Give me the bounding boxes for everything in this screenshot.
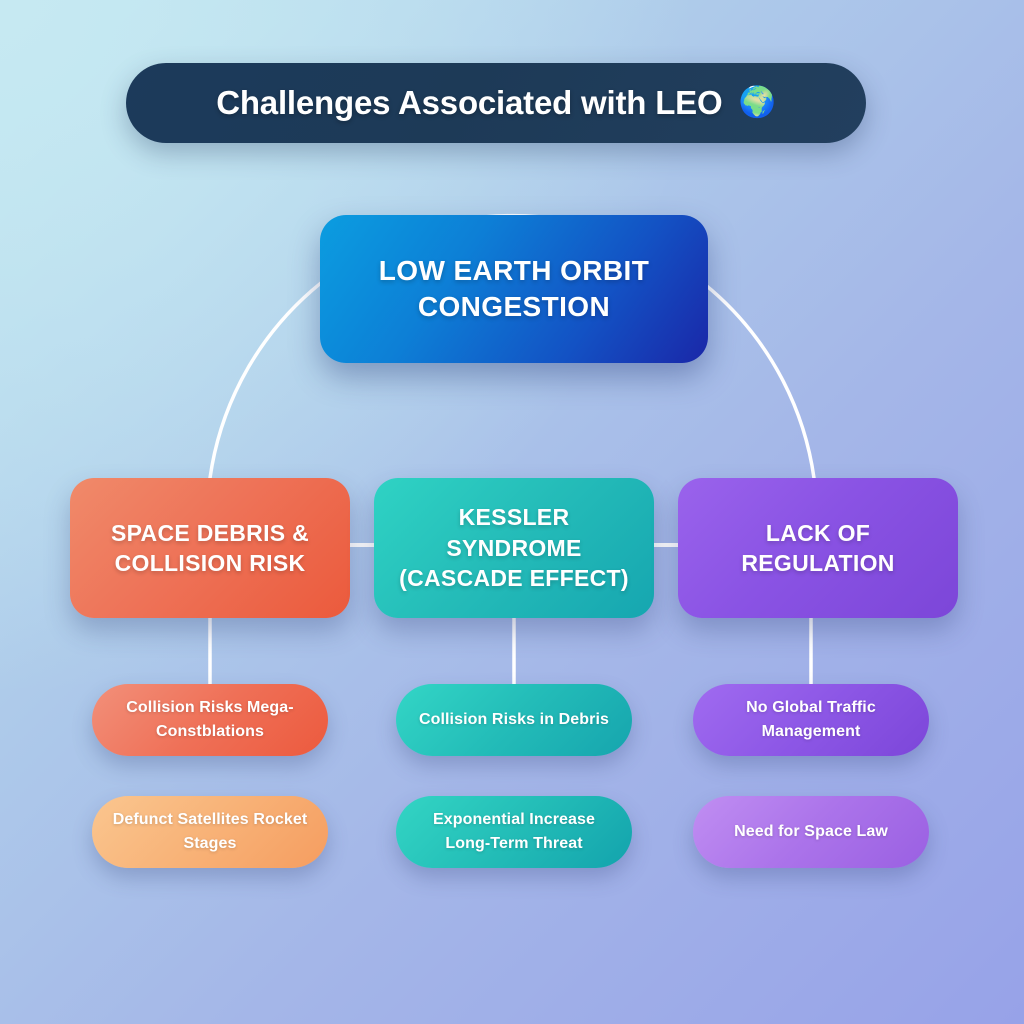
sub-item-label: Exponential Increase Long-Term Threat [410, 808, 618, 856]
category-card-label: LACK OF REGULATION [694, 518, 942, 579]
category-card-label: SPACE DEBRIS & COLLISION RISK [86, 518, 334, 579]
sub-item-label: Collision Risks Mega-Constblations [106, 696, 314, 744]
sub-item-pill[interactable]: Collision Risks in Debris [396, 684, 632, 756]
sub-item-label: Collision Risks in Debris [419, 708, 609, 732]
sub-item-pill[interactable]: Defunct Satellites Rocket Stages [92, 796, 328, 868]
category-card-lack-of-regulation[interactable]: LACK OF REGULATION [678, 478, 958, 618]
sub-item-label: No Global Traffic Management [707, 696, 915, 744]
root-node-label: LOW EARTH ORBIT CONGESTION [346, 253, 682, 326]
infographic-canvas: Challenges Associated with LEO 🌍 LOW EAR… [0, 0, 1024, 1024]
category-card-kessler-syndrome[interactable]: KESSLER SYNDROME (CASCADE EFFECT) [374, 478, 654, 618]
root-node-low-earth-orbit-congestion[interactable]: LOW EARTH ORBIT CONGESTION [320, 215, 708, 363]
sub-item-label: Need for Space Law [734, 820, 888, 844]
globe-earth-africa-icon: 🌍 [738, 88, 775, 118]
page-title: Challenges Associated with LEO [216, 84, 722, 122]
sub-item-pill[interactable]: No Global Traffic Management [693, 684, 929, 756]
sub-item-pill[interactable]: Exponential Increase Long-Term Threat [396, 796, 632, 868]
sub-item-pill[interactable]: Collision Risks Mega-Constblations [92, 684, 328, 756]
category-card-space-debris[interactable]: SPACE DEBRIS & COLLISION RISK [70, 478, 350, 618]
title-banner: Challenges Associated with LEO 🌍 [126, 63, 866, 143]
sub-item-label: Defunct Satellites Rocket Stages [106, 808, 314, 856]
category-card-label: KESSLER SYNDROME (CASCADE EFFECT) [390, 502, 638, 593]
sub-item-pill[interactable]: Need for Space Law [693, 796, 929, 868]
